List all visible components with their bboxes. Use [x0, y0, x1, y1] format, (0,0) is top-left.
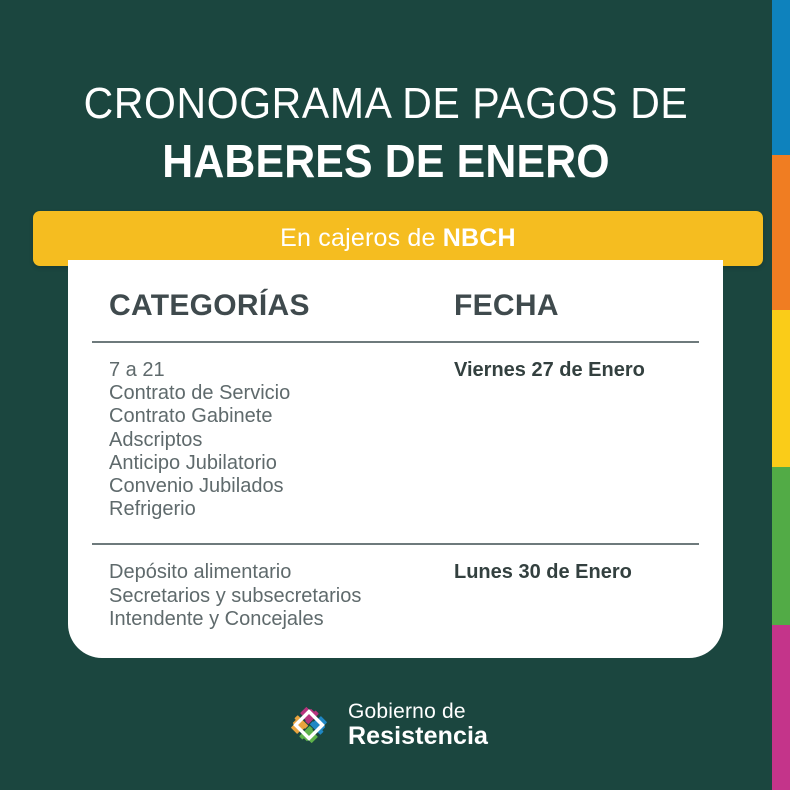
list-item: Secretarios y subsecretarios	[109, 585, 454, 608]
footer-logo: Gobierno de Resistencia	[0, 700, 772, 750]
list-item: Convenio Jubilados	[109, 475, 454, 498]
list-item: Anticipo Jubilatorio	[109, 452, 454, 475]
list-item: Intendente y Concejales	[109, 608, 454, 631]
color-strip	[772, 0, 790, 790]
category-list: 7 a 21 Contrato de Servicio Contrato Gab…	[109, 359, 454, 521]
column-header-fecha: FECHA	[454, 289, 694, 323]
color-band-orange	[772, 155, 790, 310]
payment-date: Viernes 27 de Enero	[454, 359, 694, 521]
list-item: Depósito alimentario	[109, 561, 454, 584]
schedule-card: CATEGORÍAS FECHA 7 a 21 Contrato de Serv…	[68, 260, 723, 658]
color-band-yellow	[772, 310, 790, 467]
column-header-categorias: CATEGORÍAS	[109, 289, 454, 323]
color-band-magenta	[772, 625, 790, 790]
table-header-row: CATEGORÍAS FECHA	[68, 260, 723, 323]
table-row: 7 a 21 Contrato de Servicio Contrato Gab…	[68, 343, 723, 521]
list-item: Contrato Gabinete	[109, 405, 454, 428]
nbch-banner: En cajeros de NBCH	[33, 211, 763, 266]
color-band-green	[772, 467, 790, 625]
payment-date: Lunes 30 de Enero	[454, 561, 694, 631]
page-title-line1: CRONOGRAMA DE PAGOS DE	[27, 76, 745, 132]
logo-line-gobierno: Gobierno de	[348, 701, 488, 722]
nbch-banner-bank: NBCH	[443, 224, 516, 252]
color-band-blue	[772, 0, 790, 155]
gobierno-resistencia-logo-icon	[284, 700, 334, 750]
page-title-line2: HABERES DE ENERO	[27, 132, 745, 190]
logo-text: Gobierno de Resistencia	[348, 701, 488, 749]
page-title: CRONOGRAMA DE PAGOS DE HABERES DE ENERO	[0, 76, 772, 190]
category-list: Depósito alimentario Secretarios y subse…	[109, 561, 454, 631]
list-item: Contrato de Servicio	[109, 382, 454, 405]
list-item: 7 a 21	[109, 359, 454, 382]
nbch-banner-text: En cajeros de NBCH	[280, 224, 516, 253]
logo-line-resistencia: Resistencia	[348, 724, 488, 749]
nbch-banner-prefix: En cajeros de	[280, 224, 443, 252]
list-item: Adscriptos	[109, 429, 454, 452]
table-row: Depósito alimentario Secretarios y subse…	[68, 545, 723, 631]
list-item: Refrigerio	[109, 498, 454, 521]
